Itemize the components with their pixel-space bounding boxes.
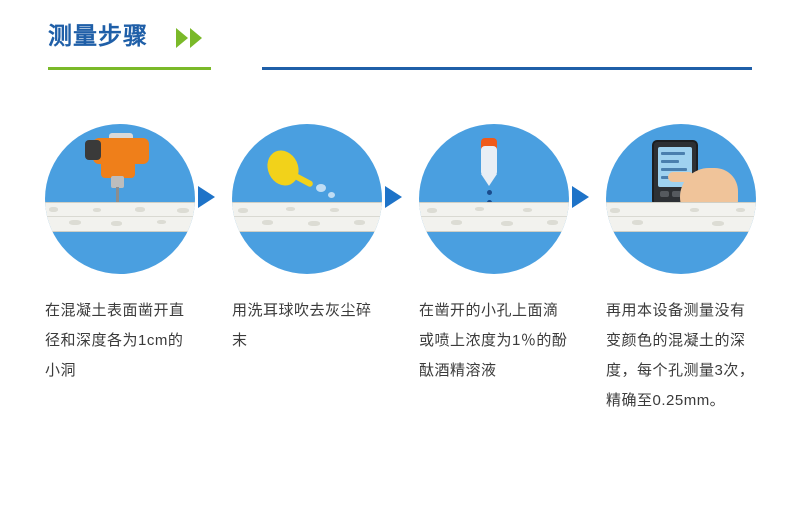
concrete-slab-graphic [232, 202, 382, 232]
step-illustration-1 [45, 124, 195, 274]
step-illustration-4 [606, 124, 756, 274]
double-chevron-right-icon [176, 28, 220, 50]
arrow-step1-to-step2 [198, 186, 215, 208]
page-title: 测量步骤 [48, 20, 148, 54]
infographic-page: 测量步骤 [0, 0, 800, 522]
dust-puff-icon [328, 192, 335, 198]
step-illustration-3 [419, 124, 569, 274]
step-item-1: 在混凝土表面凿开直径和深度各为1cm的小洞 [45, 124, 195, 386]
concrete-slab-graphic [45, 202, 195, 232]
dust-puff-icon [316, 184, 326, 192]
step-caption-4: 再用本设备测量没有变颜色的混凝土的深度，每个孔测量3次，精确至0.25mm。 [606, 296, 756, 416]
header-divider [48, 67, 752, 71]
concrete-slab-graphic [419, 202, 569, 232]
concrete-slab-graphic [606, 202, 756, 232]
step-item-2: 用洗耳球吹去灰尘碎末 [232, 124, 382, 356]
section-header: 测量步骤 [48, 20, 752, 80]
divider-blue-segment [262, 67, 752, 70]
step-item-3: 在凿开的小孔上面滴或喷上浓度为1％的酚酞酒精溶液 [419, 124, 569, 386]
step-caption-3: 在凿开的小孔上面滴或喷上浓度为1％的酚酞酒精溶液 [419, 296, 569, 386]
divider-green-segment [48, 67, 211, 70]
step-caption-2: 用洗耳球吹去灰尘碎末 [232, 296, 382, 356]
arrow-step2-to-step3 [385, 186, 402, 208]
step-caption-1: 在混凝土表面凿开直径和深度各为1cm的小洞 [45, 296, 195, 386]
steps-row: 在混凝土表面凿开直径和深度各为1cm的小洞 [0, 124, 800, 514]
hammer-drill-icon [85, 138, 165, 208]
arrow-step3-to-step4 [572, 186, 589, 208]
liquid-drop-icon [487, 190, 492, 195]
step-item-4: 再用本设备测量没有变颜色的混凝土的深度，每个孔测量3次，精确至0.25mm。 [606, 124, 756, 416]
step-illustration-2 [232, 124, 382, 274]
